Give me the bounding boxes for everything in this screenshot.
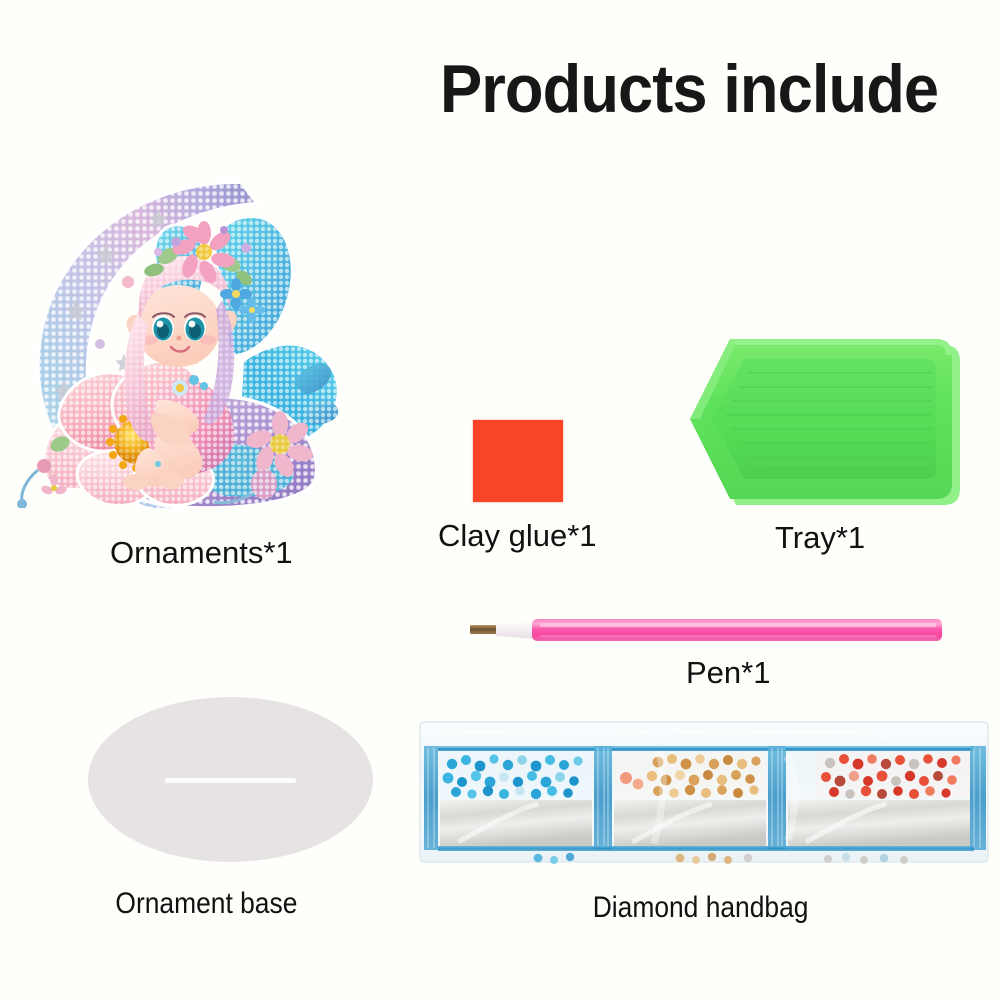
- page-title: Products include: [440, 55, 952, 123]
- pen-label: Pen*1: [686, 655, 770, 691]
- ornament-base-label: Ornament base: [115, 887, 297, 921]
- diamond-handbag-label: Diamond handbag: [593, 891, 809, 925]
- clay-glue-label: Clay glue*1: [438, 518, 597, 554]
- tray-image: [668, 325, 968, 525]
- diamond-handbag-image: [418, 716, 990, 868]
- ornament-base-image: [88, 697, 373, 862]
- product-contents-poster: Products include: [0, 0, 1001, 1001]
- pen-image: [470, 614, 945, 646]
- base-slot: [165, 778, 296, 783]
- ornaments-image: [8, 148, 348, 508]
- ornaments-label: Ornaments*1: [110, 535, 293, 571]
- tray-label: Tray*1: [775, 520, 865, 556]
- clay-glue-image: [473, 420, 563, 502]
